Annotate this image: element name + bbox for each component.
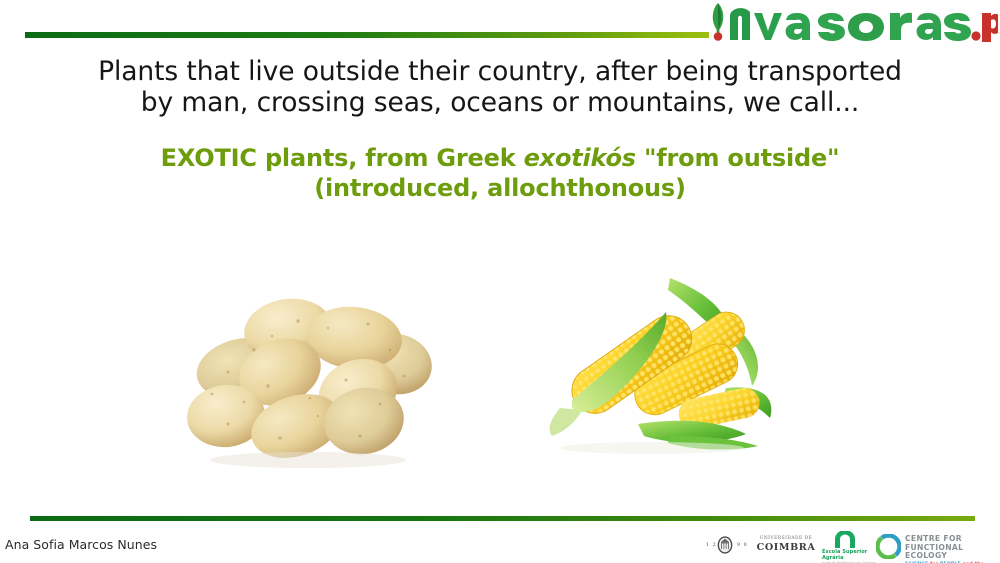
footer-rule — [30, 516, 975, 521]
brand-tld — [971, 4, 998, 42]
slide: Plants that live outside their country, … — [0, 0, 1000, 563]
universidade-coimbra-logo[interactable]: 1 2 9 0 UNIVERSIDADE DE COIMBRA — [706, 534, 818, 559]
centre-functional-ecology-logo[interactable]: CENTRE FOR FUNCTIONAL ECOLOGY SCIENCE fo… — [876, 533, 998, 560]
subtitle-greek-term: exotikós — [524, 144, 636, 172]
subtitle-line-1: EXOTIC plants, from Greek exotikós "from… — [40, 143, 960, 173]
author-name: Ana Sofia Marcos Nunes — [5, 537, 157, 552]
uc-year-left: 1 2 — [706, 543, 717, 548]
uc-line-2: COIMBRA — [753, 542, 819, 553]
header-rule — [25, 32, 709, 38]
potato-shadow — [210, 452, 406, 468]
subtitle-line-2: (introduced, allochthonous) — [40, 173, 960, 203]
title-line-2: by man, crossing seas, oceans or mountai… — [40, 87, 960, 118]
subtitle-text-before: EXOTIC plants, from Greek — [161, 144, 524, 172]
escola-superior-agraria-logo[interactable]: Escola Superior Agrária Instituto Polité… — [822, 531, 880, 562]
corn-photo — [520, 258, 782, 458]
title-block: Plants that live outside their country, … — [40, 56, 960, 118]
cfe-line-2: FUNCTIONAL ECOLOGY — [905, 544, 998, 561]
cfe-wordmark: CENTRE FOR FUNCTIONAL ECOLOGY SCIENCE fo… — [905, 535, 998, 563]
subtitle-block: EXOTIC plants, from Greek exotikós "from… — [40, 143, 960, 203]
cfe-ring-icon — [876, 534, 901, 559]
uc-crest-icon — [717, 536, 733, 555]
brand-wordmark — [730, 8, 971, 41]
esa-arch-icon — [834, 531, 856, 548]
uc-year-right: 9 0 — [737, 543, 748, 548]
corn-shadow — [560, 442, 744, 454]
esa-wordmark: Escola Superior Agrária Instituto Polité… — [822, 549, 880, 563]
footer-logos: 1 2 9 0 UNIVERSIDADE DE COIMBRA E — [700, 530, 1000, 563]
uc-wordmark: UNIVERSIDADE DE COIMBRA — [753, 536, 819, 553]
berry-dot-icon — [714, 32, 723, 41]
potatoes-photo — [168, 276, 452, 476]
invasoras-pt-logo[interactable] — [702, 0, 998, 42]
title-line-1: Plants that live outside their country, … — [40, 56, 960, 87]
subtitle-text-after: "from outside" — [636, 144, 840, 172]
